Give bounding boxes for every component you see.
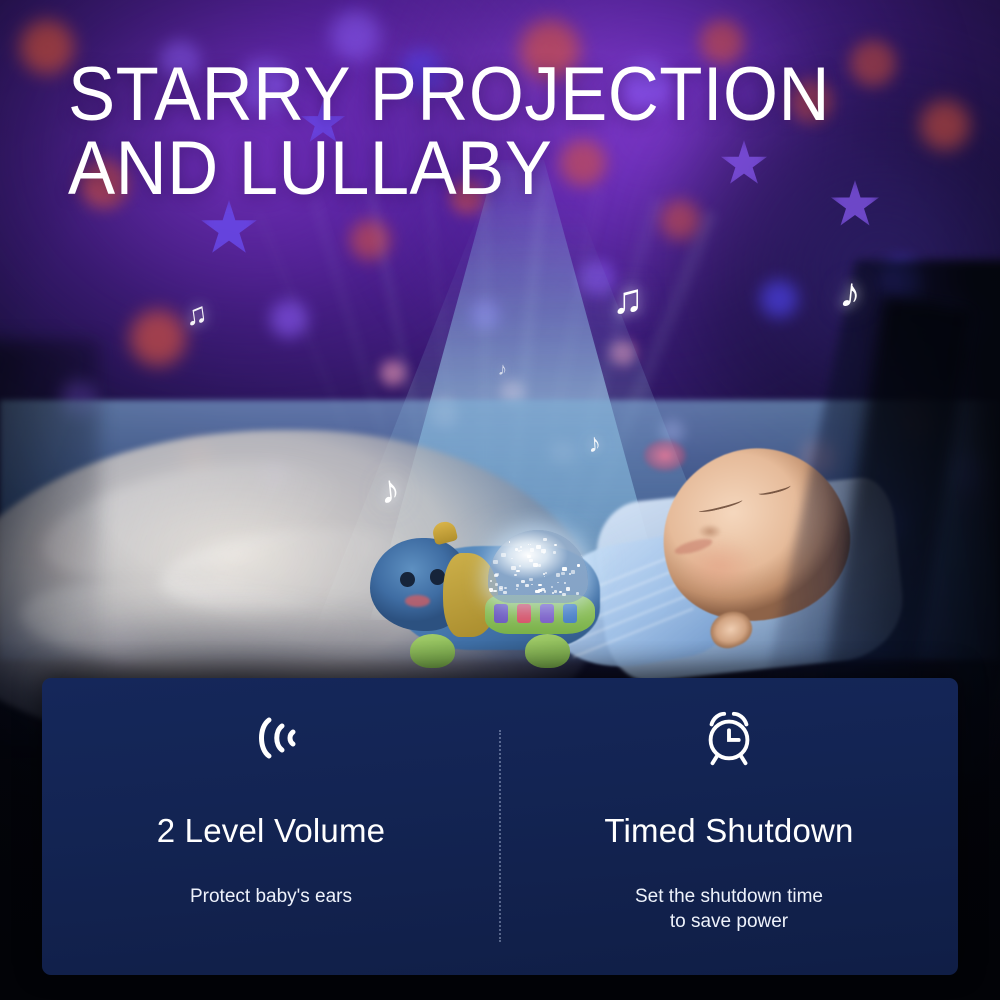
feature-subtitle: Protect baby's ears bbox=[190, 884, 352, 909]
music-note-icon: ♫ bbox=[612, 278, 644, 320]
feature-column-timer: Timed Shutdown Set the shutdown time to … bbox=[500, 678, 958, 975]
feature-column-volume: 2 Level Volume Protect baby's ears bbox=[42, 678, 500, 975]
feature-title: Timed Shutdown bbox=[604, 812, 853, 850]
music-note-icon: ♪ bbox=[378, 469, 402, 511]
product-feature-image: ♫♫♪♪♪♪ STARRY PROJECTION AND LULLABY 2 L… bbox=[0, 0, 1000, 1000]
feature-title: 2 Level Volume bbox=[157, 812, 385, 850]
music-note-icon: ♫ bbox=[183, 299, 209, 332]
feature-subtitle: Set the shutdown time to save power bbox=[635, 884, 823, 934]
music-note-icon: ♪ bbox=[497, 360, 507, 379]
feature-panel: 2 Level Volume Protect baby's ears Timed… bbox=[42, 678, 958, 975]
volume-waves-icon bbox=[234, 706, 308, 770]
music-note-icon: ♪ bbox=[838, 271, 863, 315]
alarm-clock-icon bbox=[692, 706, 766, 770]
page-title: STARRY PROJECTION AND LULLABY bbox=[68, 58, 868, 207]
music-note-icon: ♪ bbox=[587, 430, 602, 457]
